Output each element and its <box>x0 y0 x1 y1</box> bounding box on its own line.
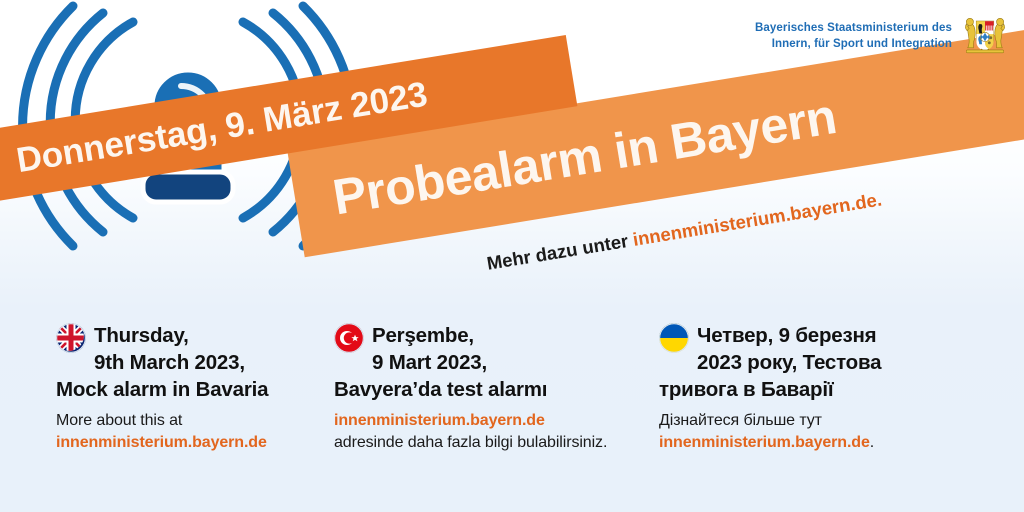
column-body-tr: innenministerium.bayern.de adresinde dah… <box>334 410 645 454</box>
column-body-suffix-tr: adresinde daha fazla bilgi bulabilirsini… <box>334 434 607 451</box>
ukraine-flag-icon <box>659 323 689 353</box>
banner-more-url[interactable]: innenministerium.bayern.de. <box>631 189 883 250</box>
uk-flag-icon <box>56 323 86 353</box>
column-heading-uk: Четвер, 9 березня2023 року, Тестоватриво… <box>659 322 1024 403</box>
turkey-flag-icon <box>334 323 364 353</box>
ministry-name-line1: Bayerisches Staatsministerium des <box>755 21 952 37</box>
column-body-prefix-en: More about this at <box>56 412 182 429</box>
language-column-tr: Perşembe,9 Mart 2023,Bavyera’da test ala… <box>330 322 645 512</box>
ministry-name: Bayerisches Staatsministerium des Innern… <box>755 21 952 52</box>
ministry-logo: Bayerisches Staatsministerium des Innern… <box>755 14 1008 60</box>
column-body-url-en[interactable]: innenministerium.bayern.de <box>56 434 267 451</box>
bavarian-coat-of-arms-icon <box>962 14 1008 60</box>
language-column-uk: Четвер, 9 березня2023 року, Тестоватриво… <box>645 322 1024 512</box>
column-body-url-tr[interactable]: innenministerium.bayern.de <box>334 412 545 429</box>
column-body-uk: Дізнайтеся більше тут innenministerium.b… <box>659 410 1024 454</box>
language-columns: Thursday,9th March 2023,Mock alarm in Ba… <box>0 322 1024 512</box>
column-body-prefix-uk: Дізнайтеся більше тут <box>659 412 822 429</box>
column-body-suffix-uk: . <box>870 434 874 451</box>
banner-more-prefix: Mehr dazu unter <box>485 229 634 274</box>
column-body-url-uk[interactable]: innenministerium.bayern.de <box>659 434 870 451</box>
poster-canvas: Bayerisches Staatsministerium des Innern… <box>0 0 1024 512</box>
language-column-en: Thursday,9th March 2023,Mock alarm in Ba… <box>0 322 330 512</box>
ministry-name-line2: Innern, für Sport und Integration <box>755 37 952 53</box>
column-heading-en: Thursday,9th March 2023,Mock alarm in Ba… <box>56 322 330 403</box>
column-heading-tr: Perşembe,9 Mart 2023,Bavyera’da test ala… <box>334 322 645 403</box>
column-body-en: More about this at innenministerium.baye… <box>56 410 330 454</box>
